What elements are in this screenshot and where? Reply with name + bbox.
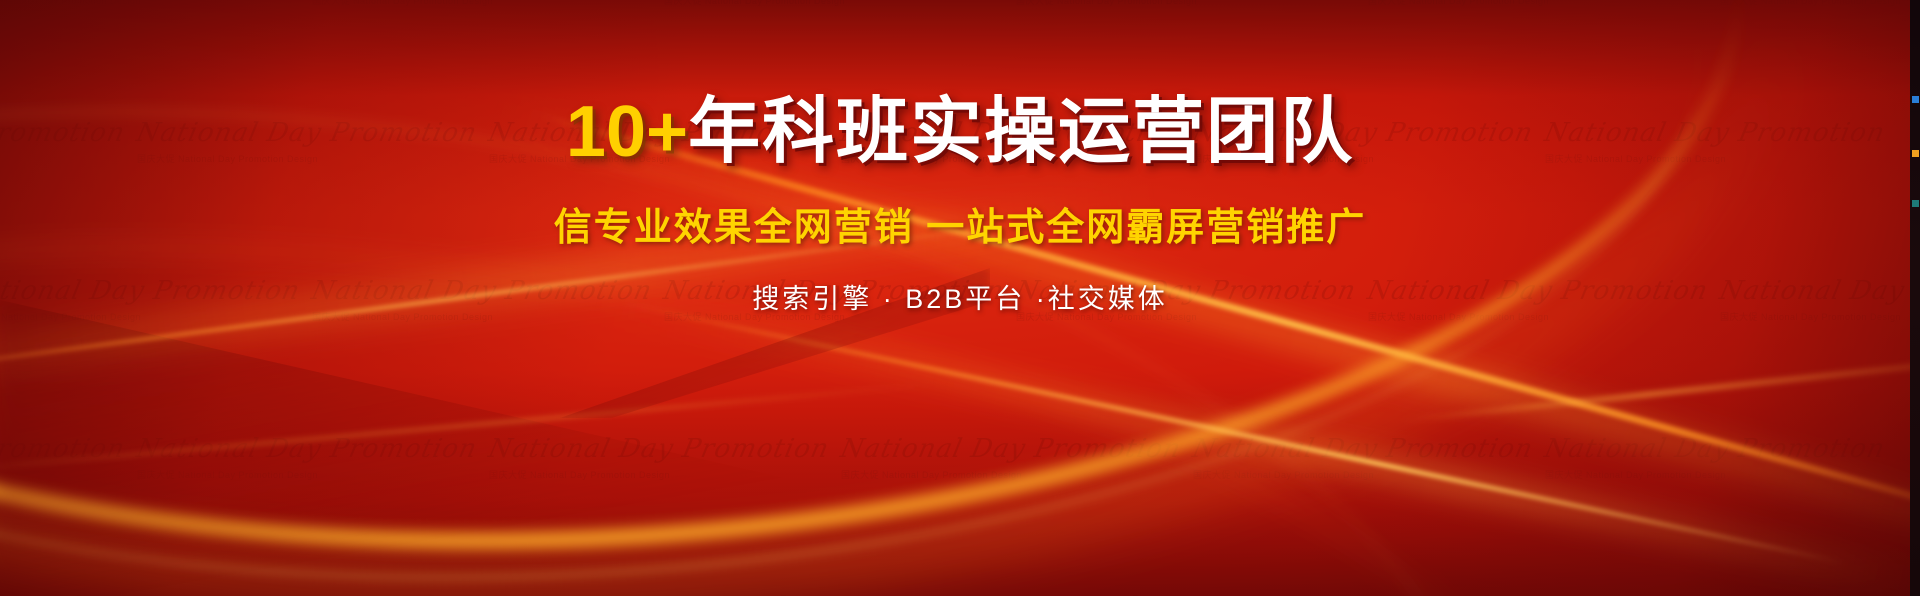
edge-pixel-teal [1912, 200, 1919, 207]
tagline: 搜索引擎 · B2B平台 ·社交媒体 [752, 277, 1168, 316]
banner-content: 10+年科班实操运营团队 信专业效果全网营销 一站式全网霸屏营销推广 搜索引擎 … [0, 0, 1920, 596]
edge-pixel-orange [1912, 150, 1919, 157]
edge-pixel-blue [1912, 96, 1919, 103]
promo-banner: National Day Promotion 国庆大促 National Day… [0, 0, 1920, 596]
headline: 10+年科班实操运营团队 [566, 96, 1354, 168]
headline-number: 10+ [566, 92, 688, 172]
right-edge-strip [1910, 0, 1920, 596]
subheadline: 信专业效果全网营销 一站式全网霸屏营销推广 [554, 196, 1367, 251]
headline-text: 年科班实操运营团队 [688, 92, 1354, 172]
